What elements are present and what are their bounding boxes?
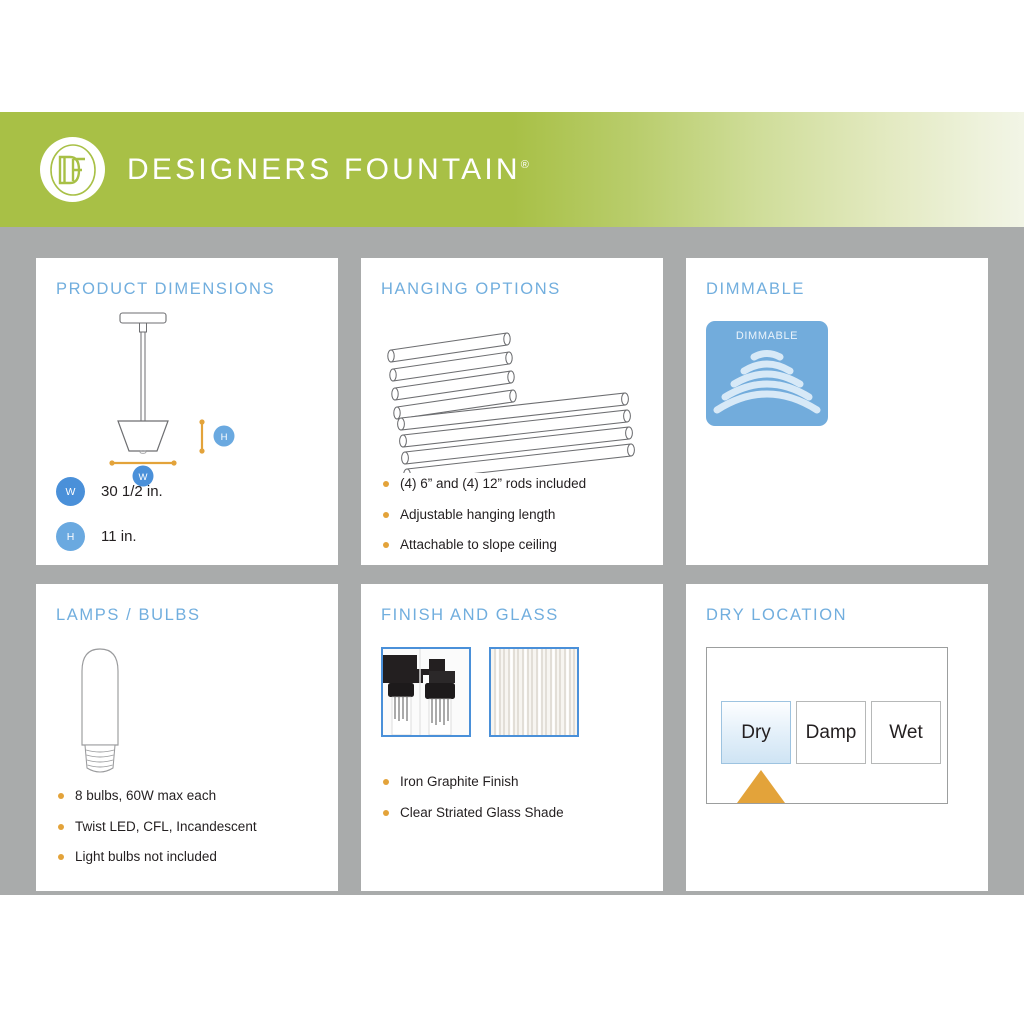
list-item: Adjustable hanging length (381, 506, 643, 524)
card-dimmable: DIMMABLE DIMMABLE (686, 258, 988, 565)
dimension-row-height: H 11 in. (56, 522, 318, 551)
card-title: FINISH AND GLASS (381, 606, 643, 625)
card-finish-and-glass: FINISH AND GLASS (361, 584, 663, 891)
card-hanging-options: HANGING OPTIONS (361, 258, 663, 565)
list-item: Twist LED, CFL, Incandescent (56, 818, 318, 836)
card-title: HANGING OPTIONS (381, 280, 643, 299)
location-option-wet[interactable]: Wet (871, 701, 941, 764)
finish-swatch-row (381, 647, 643, 737)
location-options: Dry Damp Wet (721, 701, 941, 764)
height-value: 11 in. (101, 528, 137, 545)
list-item: Attachable to slope ceiling (381, 536, 643, 554)
lamps-bulbs-list: 8 bulbs, 60W max each Twist LED, CFL, In… (56, 787, 318, 866)
location-option-damp[interactable]: Damp (796, 701, 866, 764)
spec-sheet: PRODUCT DIMENSIONS (0, 227, 1024, 895)
hanging-options-list: (4) 6” and (4) 12” rods included Adjusta… (381, 475, 643, 554)
finish-and-glass-list: Iron Graphite Finish Clear Striated Glas… (381, 773, 643, 821)
list-item: Light bulbs not included (56, 848, 318, 866)
list-item: 8 bulbs, 60W max each (56, 787, 318, 805)
selected-location-pointer-icon (737, 770, 785, 803)
location-rating-diagram: Dry Damp Wet (706, 647, 948, 804)
dimmable-badge-icon: DIMMABLE (706, 321, 828, 426)
dimension-row-width: W 30 1/2 in. (56, 477, 318, 506)
card-dry-location: DRY LOCATION Dry Damp Wet (686, 584, 988, 891)
width-badge: W (56, 477, 85, 506)
card-title: DIMMABLE (706, 280, 968, 299)
spec-card-grid: PRODUCT DIMENSIONS (36, 258, 988, 891)
svg-text:W: W (139, 472, 148, 483)
card-product-dimensions: PRODUCT DIMENSIONS (36, 258, 338, 565)
location-option-dry[interactable]: Dry (721, 701, 791, 764)
brand-name-text: DESIGNERS FOUNTAIN (127, 153, 521, 186)
card-title: DRY LOCATION (706, 606, 968, 625)
list-item: (4) 6” and (4) 12” rods included (381, 475, 643, 493)
iron-graphite-finish-swatch (381, 647, 471, 737)
bulb-illustration (56, 635, 318, 787)
brand-header: DESIGNERS FOUNTAIN® (0, 112, 1024, 227)
clear-striated-glass-swatch (489, 647, 579, 737)
card-title: LAMPS / BULBS (56, 606, 318, 625)
dimension-diagram: H W (56, 305, 318, 473)
registered-mark: ® (521, 159, 529, 171)
card-title: PRODUCT DIMENSIONS (56, 280, 318, 299)
top-margin (0, 0, 1024, 112)
svg-text:H: H (221, 432, 228, 443)
list-item: Iron Graphite Finish (381, 773, 643, 791)
hanging-rods-illustration (381, 305, 643, 475)
brand-name: DESIGNERS FOUNTAIN® (127, 153, 529, 187)
dimension-values: W 30 1/2 in. H 11 in. (56, 477, 318, 551)
card-lamps-bulbs: LAMPS / BULBS 8 bulbs, 60W max each (36, 584, 338, 891)
list-item: Clear Striated Glass Shade (381, 804, 643, 822)
designers-fountain-logo-icon (40, 137, 105, 202)
height-badge: H (56, 522, 85, 551)
